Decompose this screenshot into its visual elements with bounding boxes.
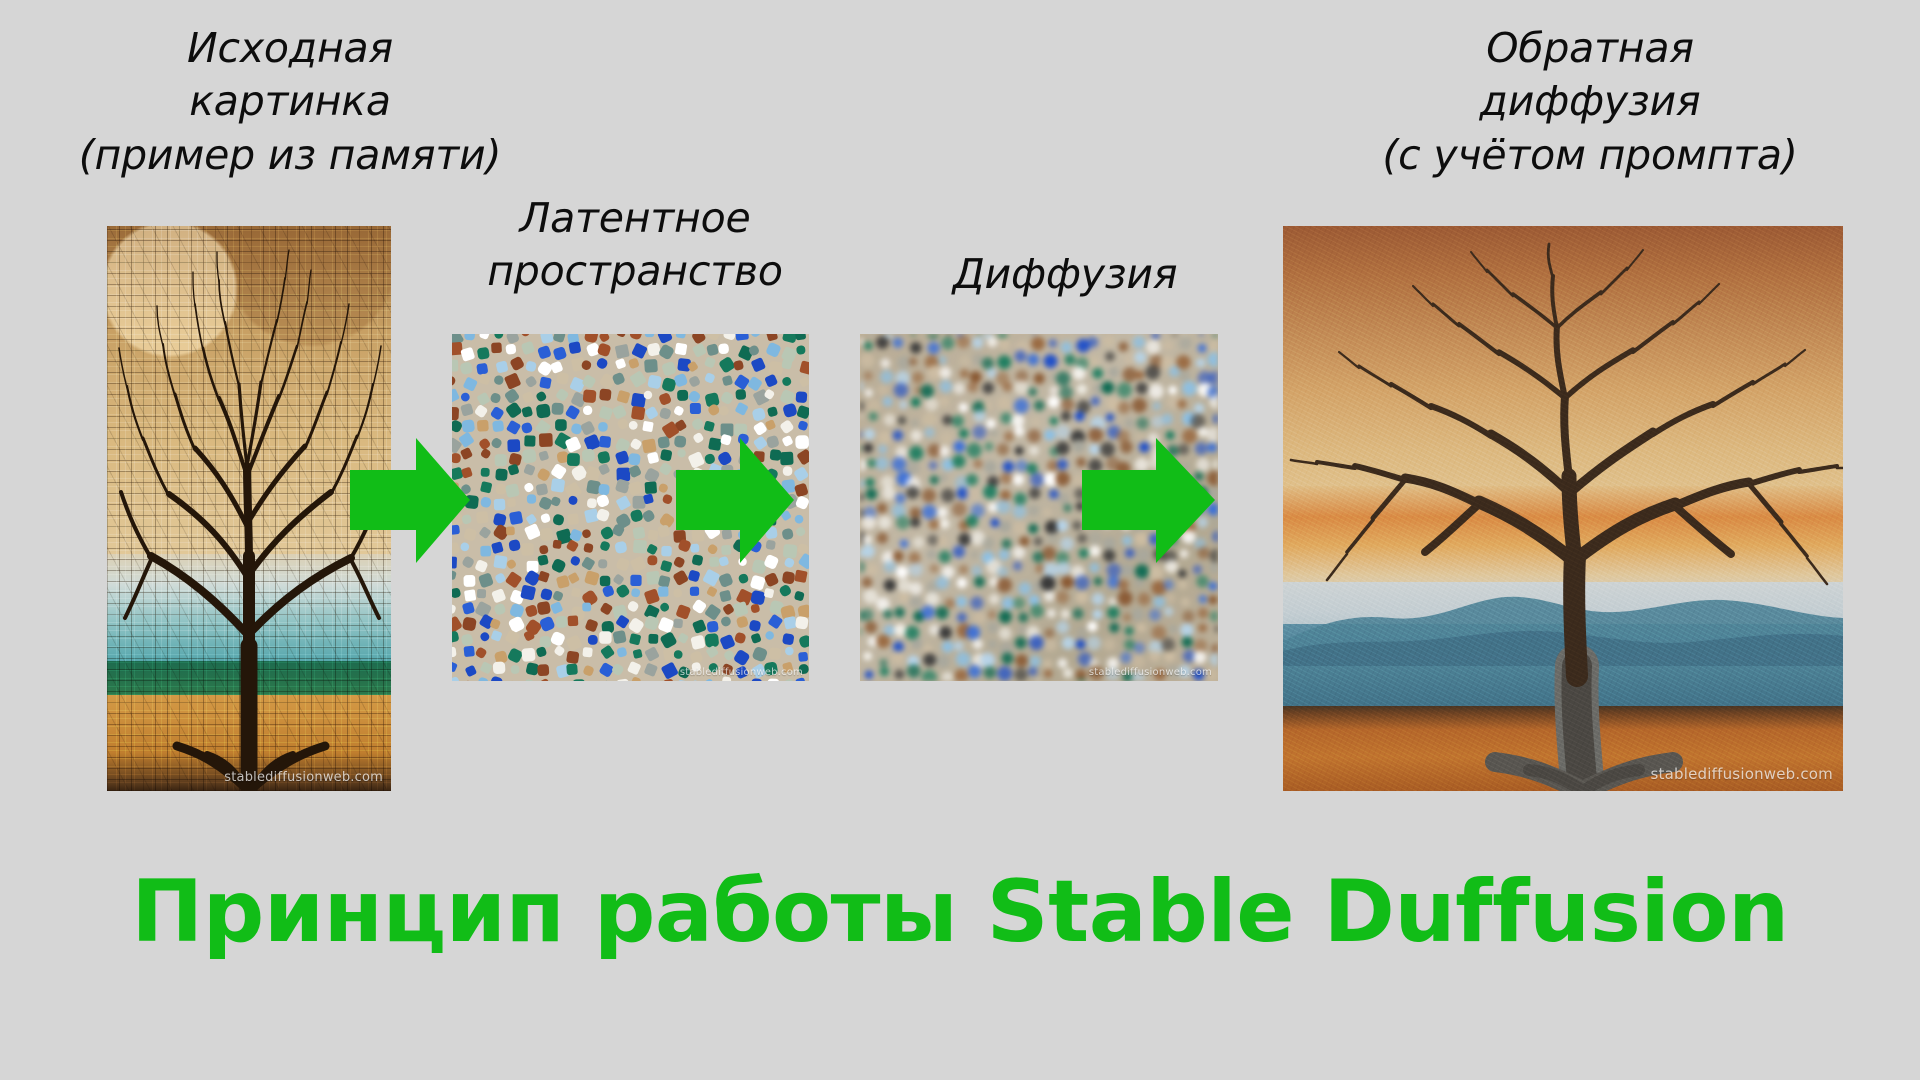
watercolor-artwork — [1283, 226, 1843, 791]
watercolor-paper-texture — [1283, 226, 1843, 791]
page-title: Принцип работы Stable Duffusion — [0, 862, 1920, 962]
panel-reverse-diffusion: stablediffusionweb.com — [1283, 226, 1843, 791]
mosaic-tree-silhouette — [107, 226, 391, 791]
panel-source-image: stablediffusionweb.com — [107, 226, 391, 791]
mosaic-artwork — [107, 226, 391, 791]
arrow-latent-to-diffusion — [676, 438, 794, 563]
caption-source-image: Исходная картинка (пример из памяти) — [20, 22, 560, 182]
arrow-source-to-latent — [350, 438, 470, 563]
caption-reverse-diffusion: Обратная диффузия (с учётом промпта) — [1280, 22, 1900, 182]
arrow-diffusion-to-reverse — [1082, 438, 1215, 563]
slide-canvas: Исходная картинка (пример из памяти) Лат… — [0, 0, 1920, 1080]
caption-diffusion: Диффузия — [860, 248, 1270, 301]
caption-latent-space: Латентное пространство — [395, 192, 875, 299]
